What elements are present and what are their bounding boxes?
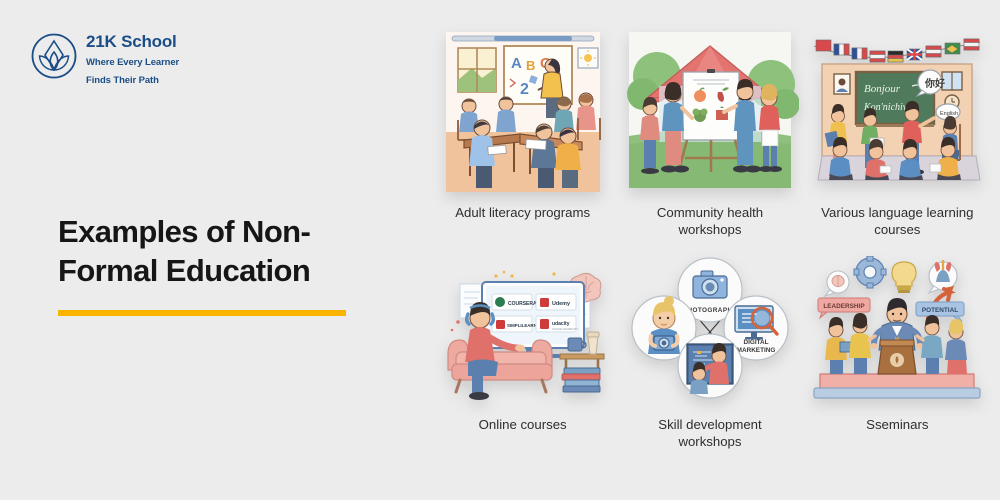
svg-text:POTENTIAL: POTENTIAL xyxy=(922,307,958,314)
svg-text:Bonjour: Bonjour xyxy=(864,83,901,95)
card-adult-literacy[interactable]: A B C 2 xyxy=(432,24,613,252)
svg-text:DIGITAL: DIGITAL xyxy=(743,339,768,346)
examples-grid: A B C 2 xyxy=(432,24,988,484)
title-accent-rule xyxy=(58,310,346,316)
svg-text:COURSERA: COURSERA xyxy=(508,301,537,307)
language-classroom-illustration: Bonjour Kon'nichiwa 你好 English xyxy=(808,24,986,196)
adult-literacy-classroom-illustration: A B C 2 xyxy=(434,24,612,196)
svg-text:A: A xyxy=(511,55,522,72)
brand-logo[interactable]: 21K School Where Every Learner Finds The… xyxy=(30,30,230,86)
card-online-courses[interactable]: COURSERA Udemy SIMPLILEARN udacity ONLIN… xyxy=(432,256,613,484)
page-headline: Examples of Non- Formal Education xyxy=(58,212,388,316)
card-skill-development[interactable]: PHOTOGRAPHY xyxy=(619,256,800,484)
skills-circles-diagram-illustration: PHOTOGRAPHY xyxy=(621,256,799,406)
card-caption: Online courses xyxy=(438,416,608,433)
card-caption: Sseminars xyxy=(812,416,982,433)
brand-text-block: 21K School Where Every Learner Finds The… xyxy=(86,32,230,88)
svg-text:2: 2 xyxy=(520,81,529,98)
card-seminars[interactable]: LEADERSHIP POTENTIAL xyxy=(807,256,988,484)
svg-text:B: B xyxy=(526,58,535,73)
svg-text:Udemy: Udemy xyxy=(552,301,570,307)
seminar-podium-stage-illustration: LEADERSHIP POTENTIAL xyxy=(808,256,986,406)
page-title-line2: Formal Education xyxy=(58,253,310,288)
card-caption: Adult literacy programs xyxy=(438,204,608,221)
community-health-tent-illustration xyxy=(621,24,799,196)
page-title: Examples of Non- Formal Education xyxy=(58,212,388,290)
card-caption: Community health workshops xyxy=(625,204,795,238)
svg-text:SIMPLILEARN: SIMPLILEARN xyxy=(507,323,537,328)
card-caption: Various language learning courses xyxy=(812,204,982,238)
brand-tagline-line1: Where Every Learner xyxy=(86,57,179,68)
card-community-health[interactable]: Community health workshops xyxy=(619,24,800,252)
svg-text:你好: 你好 xyxy=(924,77,945,90)
brand-tagline-line2: Finds Their Path xyxy=(86,75,159,86)
svg-text:ONLINE UNIVERSITY: ONLINE UNIVERSITY xyxy=(552,327,578,331)
svg-text:udacity: udacity xyxy=(552,321,570,327)
svg-text:LEADERSHIP: LEADERSHIP xyxy=(824,303,866,310)
page-title-line1: Examples of Non- xyxy=(58,214,310,249)
brand-name: 21K School xyxy=(86,32,177,51)
lotus-circle-icon xyxy=(30,32,78,80)
online-learning-sofa-illustration: COURSERA Udemy SIMPLILEARN udacity ONLIN… xyxy=(434,256,612,406)
brand-tagline: Where Every Learner Finds Their Path xyxy=(86,57,179,86)
svg-text:MARKETING: MARKETING xyxy=(737,347,776,354)
card-caption: Skill development workshops xyxy=(625,416,795,450)
card-language-learning[interactable]: Bonjour Kon'nichiwa 你好 English xyxy=(807,24,988,252)
